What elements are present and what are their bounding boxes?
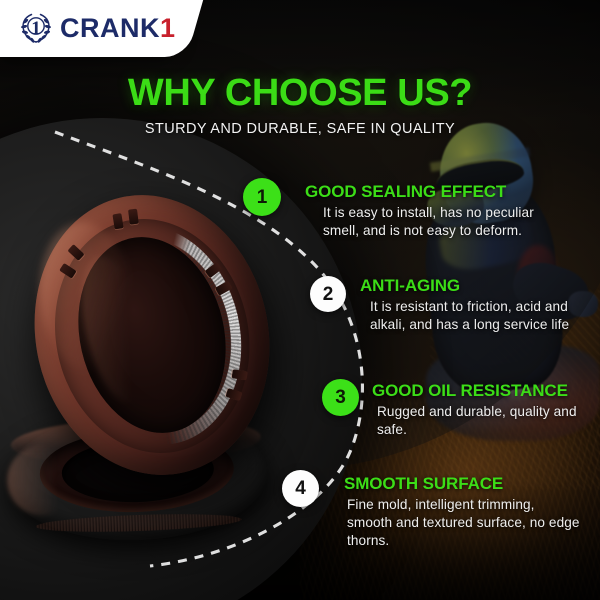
feature-badge-3[interactable]: 3 (322, 379, 359, 416)
brand-wordmark: CRANK1 (60, 15, 176, 42)
feature-3-heading: GOOD OIL RESISTANCE (372, 381, 592, 400)
brand-name-main: CRANK (60, 15, 160, 42)
feature-item-3: GOOD OIL RESISTANCE Rugged and durable, … (372, 381, 592, 439)
promo-banner: 1 2 3 4 GOOD SEALING EFFECT It is easy t… (0, 0, 600, 600)
feature-badge-3-number: 3 (335, 388, 346, 407)
brand-logo-badge[interactable]: 1 CRANK1 (0, 0, 178, 57)
feature-1-heading: GOOD SEALING EFFECT (305, 182, 563, 201)
seal-marking (112, 213, 123, 229)
feature-item-4: SMOOTH SURFACE Fine mold, intelligent tr… (344, 474, 582, 550)
feature-4-heading: SMOOTH SURFACE (344, 474, 582, 493)
feature-badge-2-number: 2 (323, 285, 334, 304)
feature-badge-4[interactable]: 4 (282, 470, 319, 507)
feature-badge-1[interactable]: 1 (243, 178, 281, 216)
feature-item-2: ANTI-AGING It is resistant to friction, … (360, 276, 592, 334)
page-subtitle: STURDY AND DURABLE, SAFE IN QUALITY (0, 122, 600, 137)
brand-logo-inner: 1 CRANK1 (17, 9, 176, 47)
brand-name-suffix: 1 (160, 15, 176, 42)
page-title: WHY CHOOSE US? (0, 74, 600, 112)
product-image-oil-seals (0, 180, 290, 570)
feature-4-body: Fine mold, intelligent trimming, smooth … (344, 496, 582, 550)
feature-badge-1-number: 1 (257, 188, 268, 207)
feature-badge-4-number: 4 (295, 479, 306, 498)
feature-item-1: GOOD SEALING EFFECT It is easy to instal… (305, 182, 563, 240)
feature-2-heading: ANTI-AGING (360, 276, 592, 295)
seal-knurled-edge (35, 511, 241, 534)
feature-badge-2[interactable]: 2 (310, 276, 346, 312)
feature-1-body: It is easy to install, has no peculiar s… (305, 204, 563, 240)
seal-marking (128, 209, 139, 225)
laurel-wreath-icon: 1 (17, 9, 55, 47)
brand-badge-number: 1 (17, 9, 55, 47)
feature-3-body: Rugged and durable, quality and safe. (372, 403, 592, 439)
feature-2-body: It is resistant to friction, acid and al… (360, 298, 592, 334)
